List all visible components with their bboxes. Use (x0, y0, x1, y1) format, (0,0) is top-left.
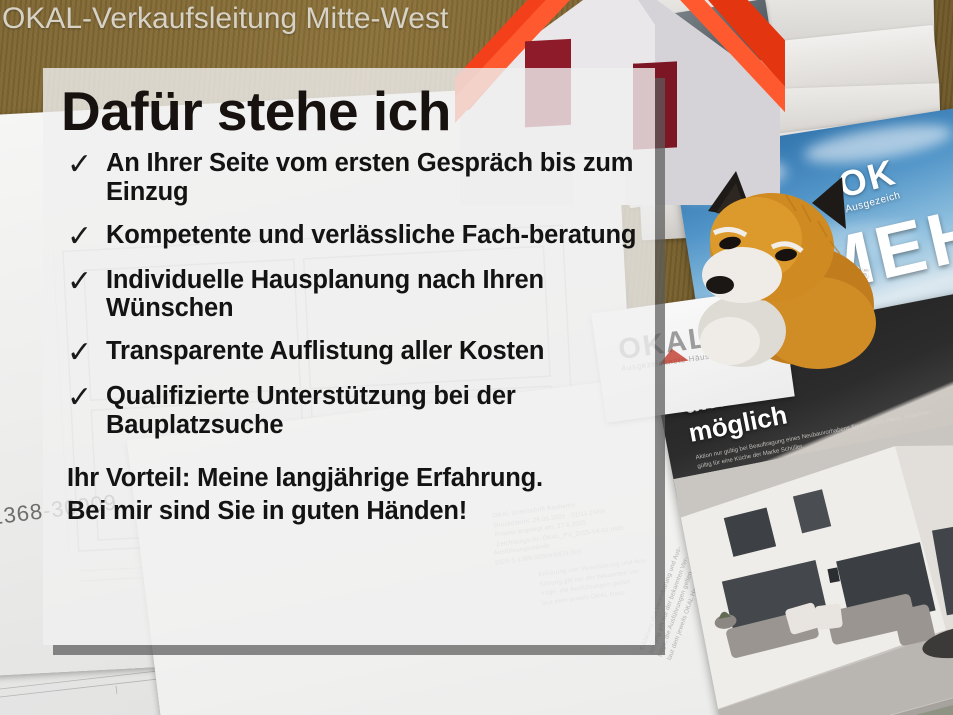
closing-line-2: Bei mir sind Sie in guten Händen! (67, 495, 637, 528)
fox-plush-toy (690, 155, 885, 370)
check-icon: ✓ (67, 150, 93, 180)
panel-headline: Dafür stehe ich (61, 84, 637, 139)
list-item-label: Individuelle Hausplanung nach Ihren Wüns… (106, 266, 637, 324)
benefit-list: ✓ An Ihrer Seite vom ersten Gespräch bis… (57, 149, 637, 440)
list-item-label: Kompetente und verlässliche Fach-beratun… (106, 221, 636, 250)
list-item: ✓ Qualifizierte Unterstützung bei der Ba… (67, 382, 637, 440)
list-item: ✓ An Ihrer Seite vom ersten Gespräch bis… (67, 149, 637, 207)
list-item: ✓ Transparente Auflistung aller Kosten (67, 337, 637, 368)
check-icon: ✓ (67, 383, 93, 413)
list-item-label: Transparente Auflistung aller Kosten (106, 337, 544, 366)
check-icon: ✓ (67, 338, 93, 368)
check-icon: ✓ (67, 267, 93, 297)
check-icon: ✓ (67, 222, 93, 252)
list-item: ✓ Kompetente und verlässliche Fach-berat… (67, 221, 637, 252)
slide-canvas: Zimmer14,14 m² Wohnen28,37 m² BadDiele K… (0, 0, 953, 715)
list-item-label: An Ihrer Seite vom ersten Gespräch bis z… (106, 149, 637, 207)
closing-statement: Ihr Vorteil: Meine langjährige Erfahrung… (67, 462, 637, 527)
content-panel: Dafür stehe ich ✓ An Ihrer Seite vom ers… (43, 68, 655, 645)
closing-line-1: Ihr Vorteil: Meine langjährige Erfahrung… (67, 462, 637, 495)
list-item: ✓ Individuelle Hausplanung nach Ihren Wü… (67, 266, 637, 324)
list-item-label: Qualifizierte Unterstützung bei der Baup… (106, 382, 637, 440)
